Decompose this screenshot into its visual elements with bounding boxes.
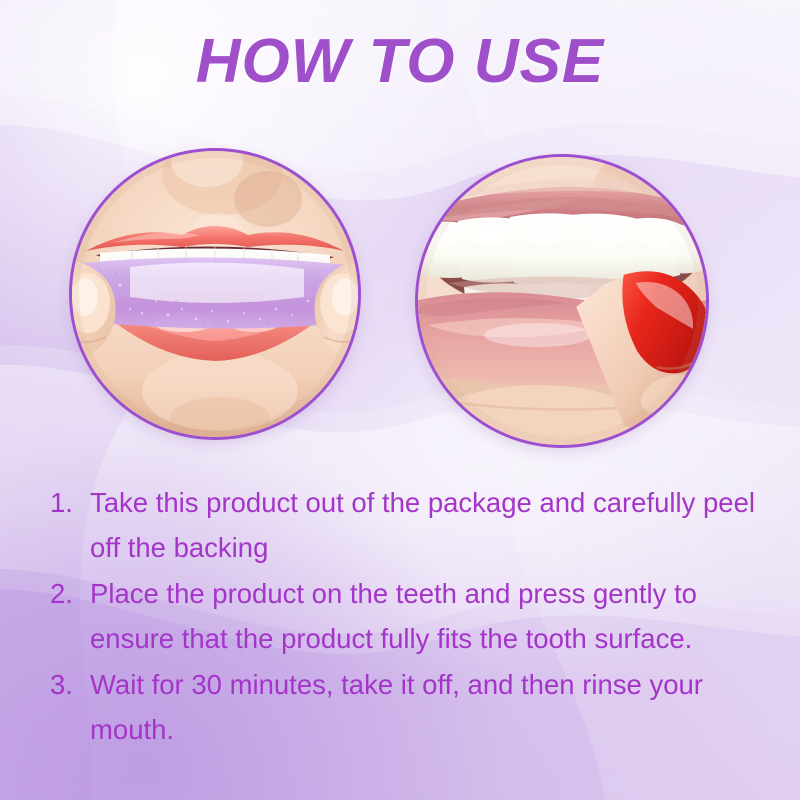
- applying-strip-illustration: [72, 151, 358, 437]
- step-number: 3.: [50, 662, 90, 707]
- step-text: Place the product on the teeth and press…: [90, 571, 766, 661]
- whitened-teeth-illustration: [418, 157, 706, 445]
- step-text: Take this product out of the package and…: [90, 480, 766, 570]
- page-title: HOW TO USE: [0, 26, 800, 97]
- list-item: 3. Wait for 30 minutes, take it off, and…: [50, 662, 766, 752]
- step-number: 2.: [50, 571, 90, 616]
- instruction-list: 1. Take this product out of the package …: [50, 480, 766, 753]
- list-item: 2. Place the product on the teeth and pr…: [50, 571, 766, 661]
- step-text: Wait for 30 minutes, take it off, and th…: [90, 662, 766, 752]
- applying-strip-photo: [72, 151, 358, 437]
- step-number: 1.: [50, 480, 90, 525]
- list-item: 1. Take this product out of the package …: [50, 480, 766, 570]
- how-to-use-poster: HOW TO USE: [0, 0, 800, 800]
- whitened-teeth-photo: [418, 157, 706, 445]
